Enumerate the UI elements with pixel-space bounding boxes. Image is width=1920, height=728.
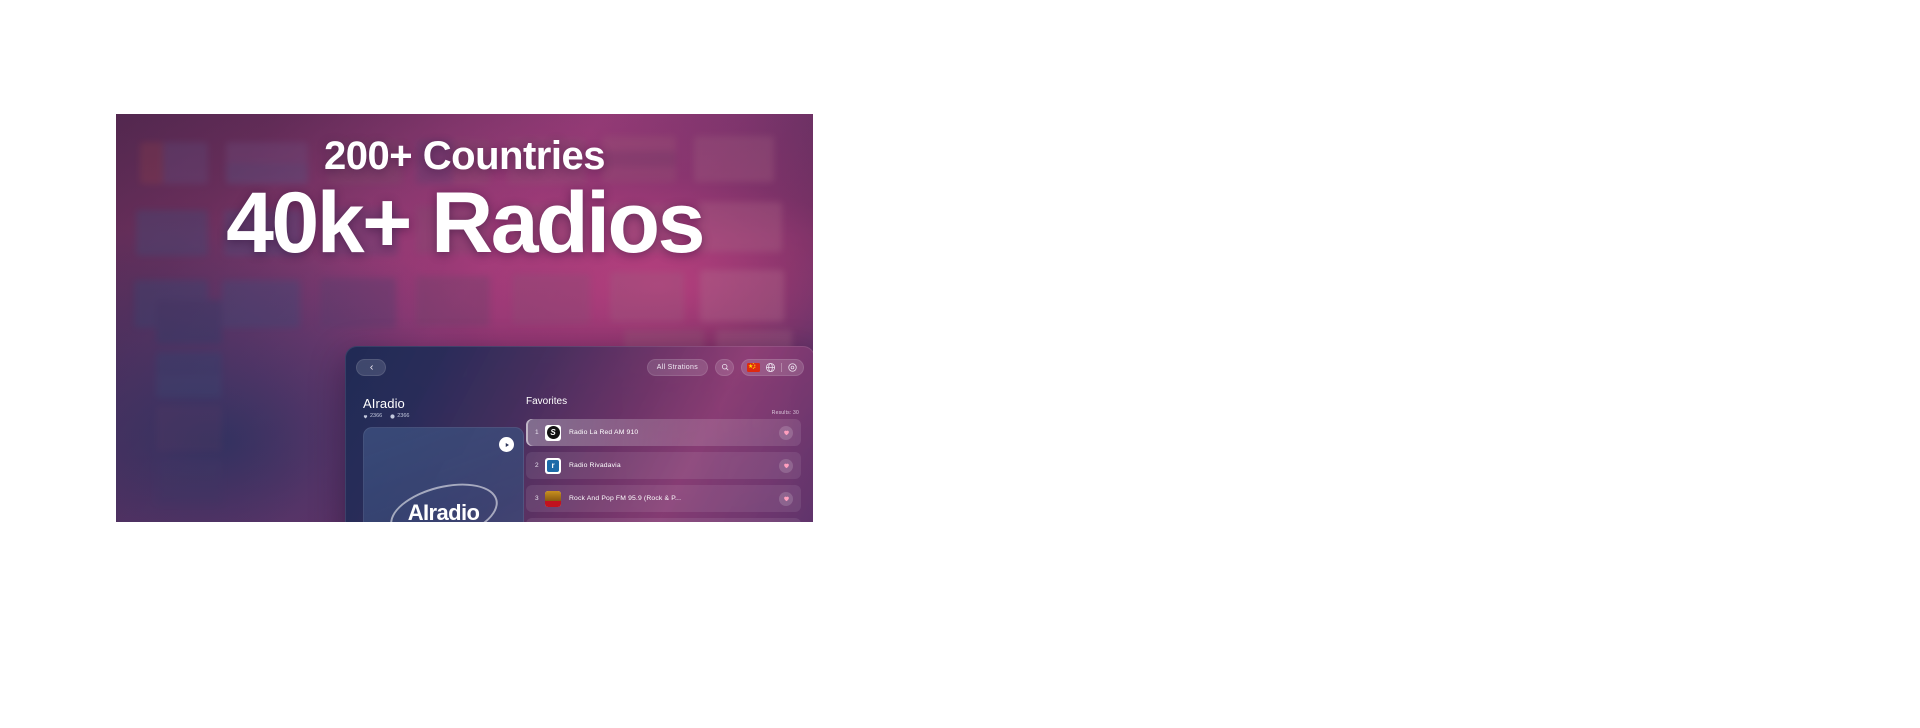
heart-icon: [783, 429, 790, 436]
hero-banner: 200+ Countries 40k+ Radios All Strations…: [116, 114, 813, 522]
app-header: All Strations ★★★★★: [345, 346, 813, 388]
favorites-panel: Favorites Results: 30 1 S Radio La Red A…: [526, 388, 813, 522]
stat-likes: 2366: [363, 413, 382, 419]
stat-likes-value: 2366: [370, 413, 382, 419]
favorite-toggle[interactable]: [779, 492, 793, 506]
rock-and-pop-logo: [545, 491, 561, 507]
radio-rivadavia-logo: r: [545, 458, 561, 474]
header-controls: All Strations ★★★★★: [647, 359, 804, 376]
heart-icon: [363, 414, 368, 419]
logo-wordmark: AIradio: [408, 500, 480, 522]
search-icon: [721, 363, 729, 371]
page-title: AIradio: [363, 396, 514, 411]
radio-la-red-logo: S: [545, 425, 561, 441]
all-stations-button[interactable]: All Strations: [647, 359, 708, 376]
row-rank: 1: [535, 429, 545, 436]
table-row[interactable]: 2 r Radio Rivadavia: [526, 452, 801, 479]
back-button[interactable]: [356, 359, 386, 376]
table-row[interactable]: 1 S Radio La Red AM 910: [526, 419, 801, 446]
favorite-toggle[interactable]: [779, 459, 793, 473]
app-window: All Strations ★★★★★ AIradio: [345, 346, 813, 522]
globe-icon[interactable]: [765, 362, 776, 373]
play-button[interactable]: [499, 437, 514, 452]
play-count-icon: [390, 414, 395, 419]
station-stats: 2366 2366: [363, 413, 514, 419]
gear-icon[interactable]: [787, 362, 798, 373]
table-row[interactable]: 3 Rock And Pop FM 95.9 (Rock & P...: [526, 485, 801, 512]
row-rank: 3: [535, 495, 545, 502]
header-divider: [781, 363, 782, 372]
table-row[interactable]: 4 LATINA Radio Latina FM 101.1: [526, 518, 801, 522]
results-count: Results: 30: [772, 410, 799, 416]
china-flag-icon[interactable]: ★★★★★: [747, 363, 760, 372]
play-icon: [504, 442, 510, 448]
station-name: Radio La Red AM 910: [569, 429, 779, 436]
stat-plays-value: 2366: [397, 413, 409, 419]
search-button[interactable]: [715, 359, 734, 376]
app-body: AIradio 2366 2366: [345, 388, 813, 522]
heart-icon: [783, 462, 790, 469]
favorites-heading: Favorites: [526, 396, 801, 407]
station-name: Rock And Pop FM 95.9 (Rock & P...: [569, 495, 779, 502]
station-list: 1 S Radio La Red AM 910 2 r Radio Rivada…: [526, 419, 801, 522]
airadio-logo: AIradio: [364, 476, 523, 522]
album-art-card[interactable]: AIradio: [363, 427, 524, 522]
chevron-left-icon: [368, 364, 375, 371]
favorite-toggle[interactable]: [779, 426, 793, 440]
region-settings-group[interactable]: ★★★★★: [741, 359, 804, 376]
row-rank: 2: [535, 462, 545, 469]
stat-plays: 2366: [390, 413, 409, 419]
now-playing-panel: AIradio 2366 2366: [345, 388, 526, 522]
station-name: Radio Rivadavia: [569, 462, 779, 469]
heart-icon: [783, 495, 790, 502]
